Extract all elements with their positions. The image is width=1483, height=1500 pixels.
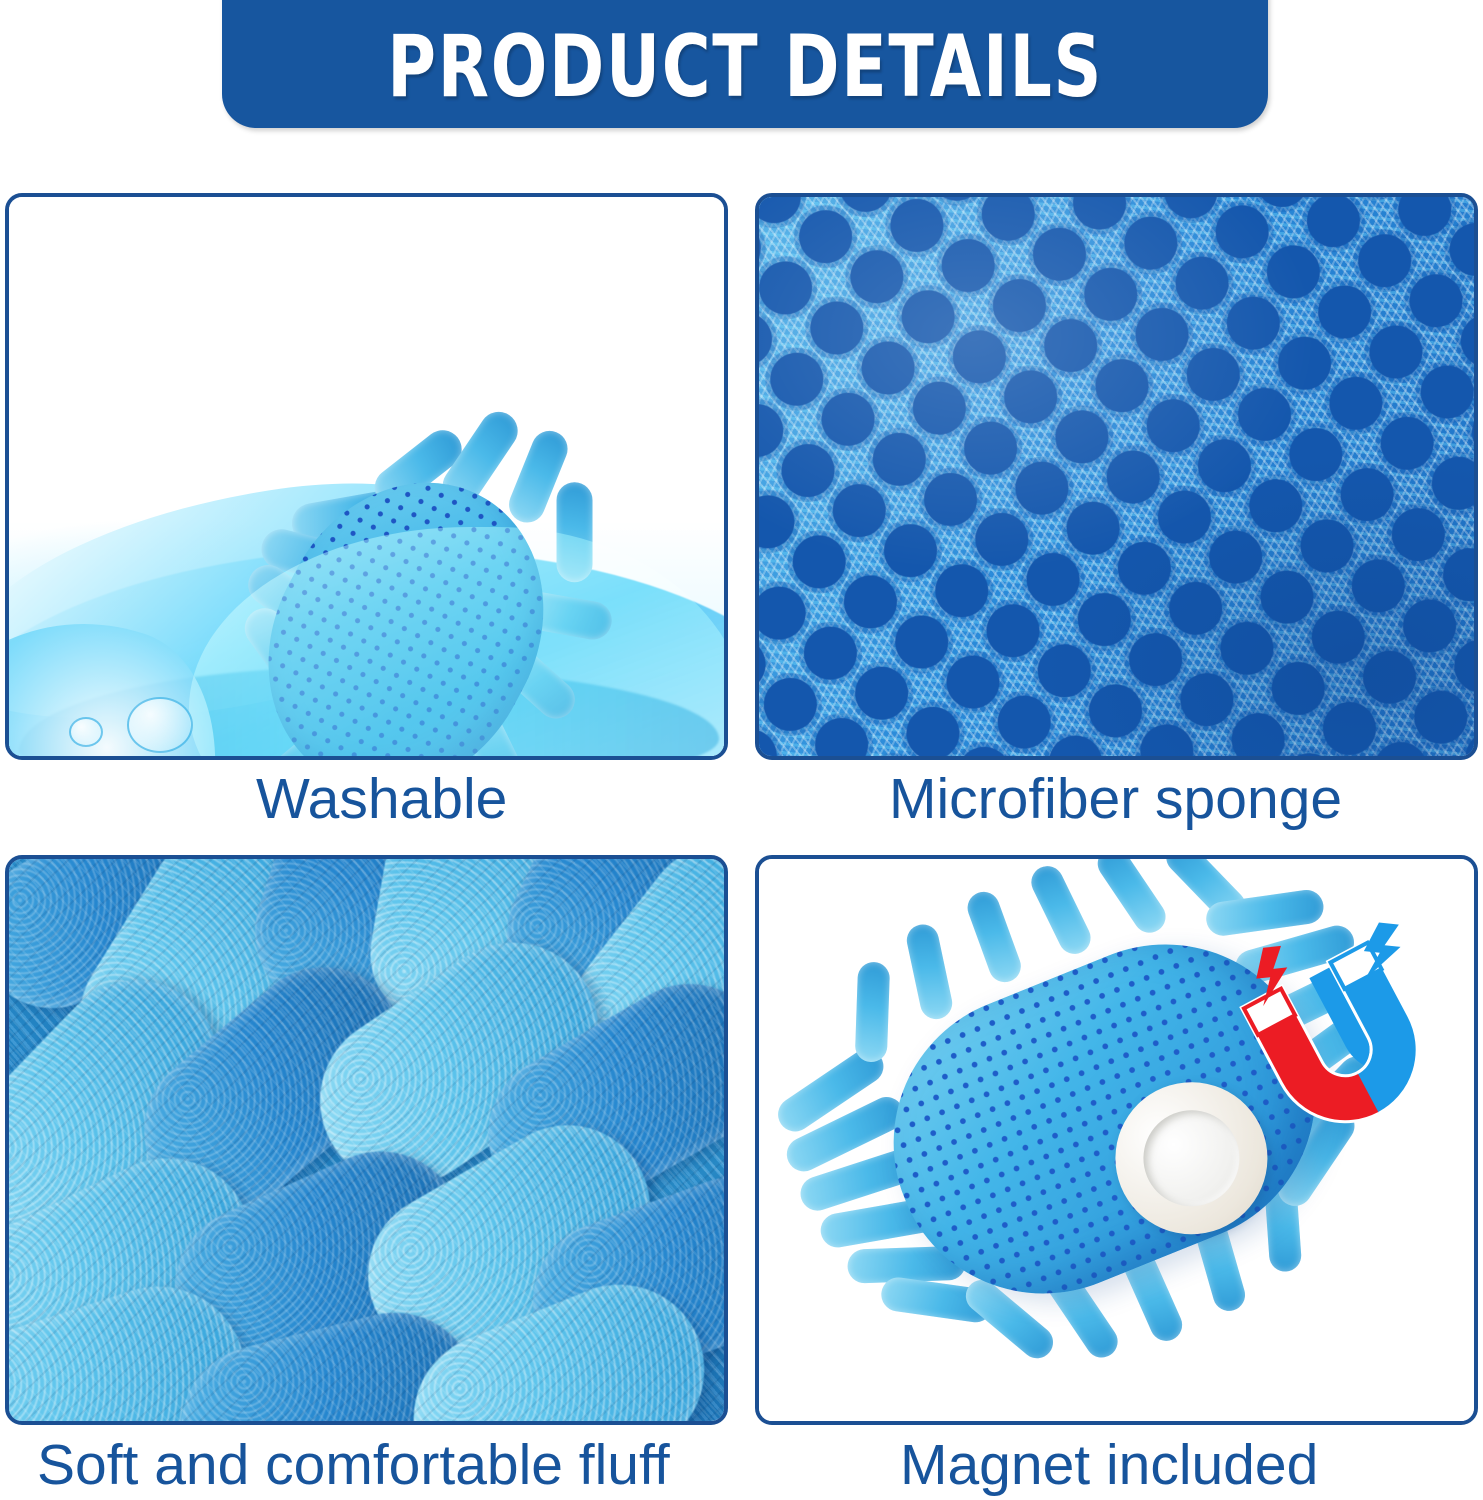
header-banner: PRODUCT DETAILS: [222, 0, 1268, 128]
fluff-finger: [1092, 859, 1172, 939]
caption-washable: Washable: [256, 771, 507, 828]
caption-fluff: Soft and comfortable fluff: [37, 1437, 670, 1494]
panel-fluff[interactable]: [5, 855, 728, 1425]
panel-washable[interactable]: [5, 193, 728, 760]
horseshoe-magnet-icon: [1226, 919, 1456, 1149]
page-title: PRODUCT DETAILS: [387, 24, 1103, 128]
panel-magnet-image: [759, 859, 1474, 1421]
panel-fluff-image: [9, 859, 724, 1421]
caption-microfiber: Microfiber sponge: [889, 771, 1342, 828]
water-bubble-icon: [69, 717, 103, 747]
caption-magnet: Magnet included: [900, 1437, 1318, 1494]
panel-microfiber[interactable]: [755, 193, 1478, 760]
panel-microfiber-image: [759, 197, 1474, 756]
water-bubble-icon: [127, 697, 193, 753]
fluff-finger: [855, 962, 890, 1063]
panel-washable-image: [9, 197, 724, 756]
mesh-shading: [759, 197, 1474, 756]
panel-magnet[interactable]: [755, 855, 1478, 1425]
